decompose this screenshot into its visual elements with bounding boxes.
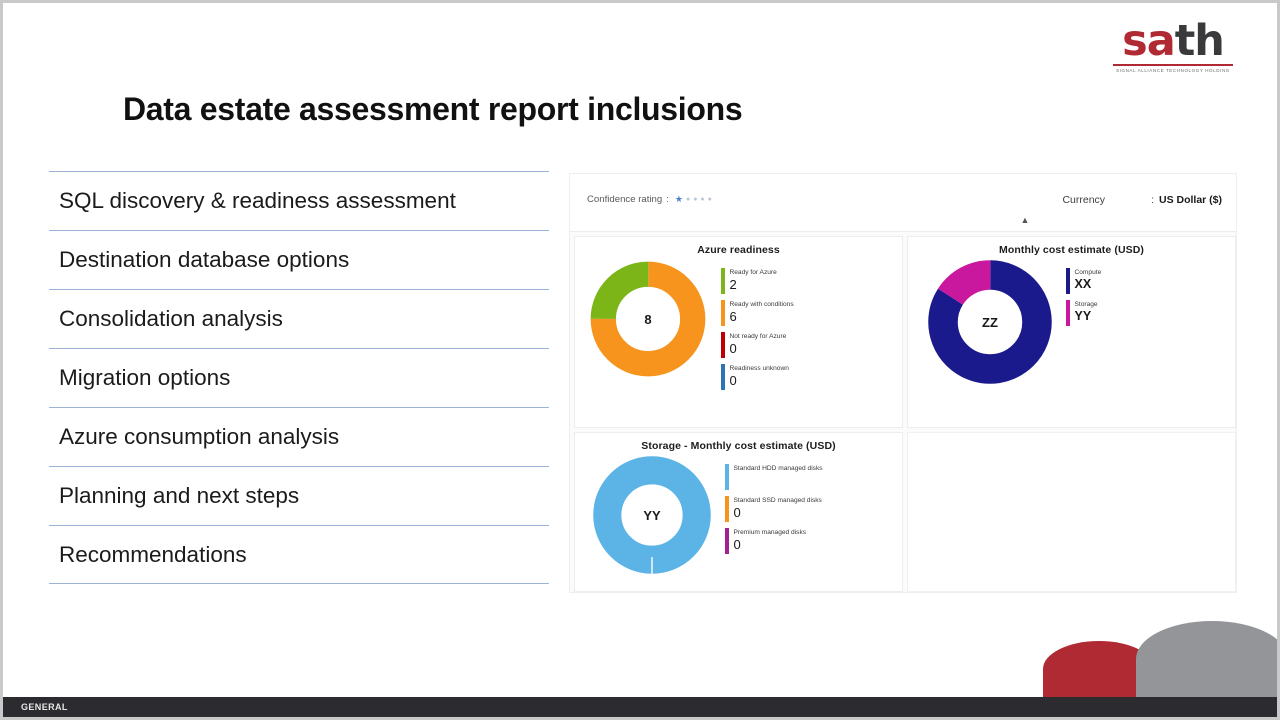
classification-bar: GENERAL bbox=[3, 697, 1280, 717]
logo-wordmark: sath bbox=[1113, 19, 1233, 63]
donut-slice-standard-hdd bbox=[607, 470, 696, 559]
legend-item: Not ready for Azure 0 bbox=[721, 332, 794, 358]
legend-swatch-readiness-unknown bbox=[721, 364, 725, 390]
decorative-semicircle-gray bbox=[1136, 621, 1280, 697]
donut-slice-ready-for-azure bbox=[603, 274, 692, 363]
legend-monthly-cost: Compute XX Storage YY bbox=[1066, 260, 1101, 332]
page-title: Data estate assessment report inclusions bbox=[123, 91, 742, 128]
card-title: Azure readiness bbox=[575, 237, 902, 256]
currency-value: US Dollar ($) bbox=[1159, 194, 1222, 206]
donut-svg bbox=[593, 456, 711, 574]
card-body: ZZ Compute XX St bbox=[908, 256, 1235, 384]
legend-label: Standard SSD managed disks bbox=[734, 496, 822, 505]
legend-label: Storage bbox=[1075, 300, 1098, 309]
agenda-item-destination-database-options[interactable]: Destination database options bbox=[49, 230, 549, 289]
chevron-up-icon[interactable]: ▲ bbox=[1019, 214, 1031, 226]
company-logo: sath SIGNAL ALLIANCE TECHNOLOGY HOLDING bbox=[1113, 19, 1233, 73]
legend-value: 6 bbox=[730, 309, 794, 324]
card-title: Storage - Monthly cost estimate (USD) bbox=[575, 433, 902, 452]
currency-colon: : bbox=[1151, 194, 1154, 206]
legend-swatch-standard-ssd bbox=[725, 496, 729, 522]
donut-chart-storage-cost: YY bbox=[593, 456, 711, 574]
legend-label: Compute bbox=[1075, 268, 1102, 277]
legend-swatch-compute bbox=[1066, 268, 1070, 294]
donut-slice-storage bbox=[943, 275, 1037, 369]
agenda-item-migration-options[interactable]: Migration options bbox=[49, 348, 549, 407]
card-storage-monthly-cost-estimate: Storage - Monthly cost estimate (USD) YY bbox=[574, 432, 903, 592]
donut-svg bbox=[928, 260, 1052, 384]
logo-tagline: SIGNAL ALLIANCE TECHNOLOGY HOLDING bbox=[1112, 68, 1234, 73]
currency-label: Currency bbox=[1062, 194, 1105, 206]
legend-swatch-ready-with-conditions bbox=[721, 300, 725, 326]
legend-label: Ready with conditions bbox=[730, 300, 794, 309]
donut-svg bbox=[589, 260, 707, 378]
agenda-list: SQL discovery & readiness assessment Des… bbox=[49, 171, 549, 584]
legend-value: YY bbox=[1075, 309, 1098, 324]
donut-chart-azure-readiness: 8 bbox=[589, 260, 707, 378]
legend-item: Storage YY bbox=[1066, 300, 1101, 326]
confidence-rating-colon: : bbox=[666, 194, 669, 205]
logo-text-t: t bbox=[1175, 16, 1195, 66]
legend-azure-readiness: Ready for Azure 2 Ready with conditions … bbox=[721, 260, 794, 396]
legend-storage-cost: Standard HDD managed disks Standard SSD … bbox=[725, 456, 823, 560]
legend-item: Standard SSD managed disks 0 bbox=[725, 496, 823, 522]
legend-swatch-storage bbox=[1066, 300, 1070, 326]
card-title: Monthly cost estimate (USD) bbox=[908, 237, 1235, 256]
dashboard-card-grid: Azure readiness 8 bbox=[572, 236, 1236, 592]
agenda-item-label: Migration options bbox=[59, 365, 230, 391]
legend-swatch-not-ready-for-azure bbox=[721, 332, 725, 358]
legend-label: Premium managed disks bbox=[734, 528, 807, 537]
confidence-rating-label: Confidence rating bbox=[587, 194, 662, 205]
legend-item: Ready for Azure 2 bbox=[721, 268, 794, 294]
legend-item: Standard HDD managed disks bbox=[725, 464, 823, 490]
logo-text-sa: sa bbox=[1122, 16, 1175, 66]
card-azure-readiness: Azure readiness 8 bbox=[574, 236, 903, 428]
star-empty-icon: ● bbox=[708, 195, 712, 204]
confidence-rating-stars: ★ ● ● ● ● bbox=[675, 195, 712, 204]
legend-label: Not ready for Azure bbox=[730, 332, 787, 341]
legend-value: 0 bbox=[734, 537, 807, 552]
legend-value: XX bbox=[1075, 277, 1102, 292]
legend-label: Readiness unknown bbox=[730, 364, 789, 373]
agenda-item-label: Consolidation analysis bbox=[59, 306, 283, 332]
agenda-item-planning-next-steps[interactable]: Planning and next steps bbox=[49, 466, 549, 525]
card-body: YY Standard HDD managed disks bbox=[575, 452, 902, 574]
agenda-item-label: Azure consumption analysis bbox=[59, 424, 339, 450]
legend-item: Compute XX bbox=[1066, 268, 1101, 294]
star-filled-icon: ★ bbox=[675, 195, 683, 204]
legend-value: 2 bbox=[730, 277, 777, 292]
legend-item: Readiness unknown 0 bbox=[721, 364, 794, 390]
legend-label: Ready for Azure bbox=[730, 268, 777, 277]
agenda-item-azure-consumption-analysis[interactable]: Azure consumption analysis bbox=[49, 407, 549, 466]
legend-item: Ready with conditions 6 bbox=[721, 300, 794, 326]
donut-chart-monthly-cost: ZZ bbox=[928, 260, 1052, 384]
legend-item: Premium managed disks 0 bbox=[725, 528, 823, 554]
confidence-rating-group: Confidence rating : ★ ● ● ● ● bbox=[587, 194, 712, 205]
card-body: 8 Ready for Azure 2 bbox=[575, 256, 902, 396]
logo-text-h: h bbox=[1194, 16, 1224, 66]
dashboard-header: Confidence rating : ★ ● ● ● ● Currency :… bbox=[570, 174, 1236, 232]
star-empty-icon: ● bbox=[686, 195, 690, 204]
legend-swatch-standard-hdd bbox=[725, 464, 729, 490]
agenda-item-label: SQL discovery & readiness assessment bbox=[59, 188, 456, 214]
legend-value: 0 bbox=[734, 505, 822, 520]
agenda-item-recommendations[interactable]: Recommendations bbox=[49, 525, 549, 584]
card-monthly-cost-estimate: Monthly cost estimate (USD) ZZ bbox=[907, 236, 1236, 428]
legend-swatch-ready-for-azure bbox=[721, 268, 725, 294]
classification-label: GENERAL bbox=[21, 702, 68, 712]
legend-value: 0 bbox=[730, 341, 787, 356]
agenda-item-label: Destination database options bbox=[59, 247, 349, 273]
dashboard-panel: Confidence rating : ★ ● ● ● ● Currency :… bbox=[569, 173, 1237, 593]
agenda-item-consolidation-analysis[interactable]: Consolidation analysis bbox=[49, 289, 549, 348]
legend-swatch-premium-managed bbox=[725, 528, 729, 554]
star-empty-icon: ● bbox=[693, 195, 697, 204]
legend-label: Standard HDD managed disks bbox=[734, 464, 823, 473]
card-empty-placeholder bbox=[907, 432, 1236, 592]
slide-canvas: sath SIGNAL ALLIANCE TECHNOLOGY HOLDING … bbox=[0, 0, 1280, 720]
agenda-item-label: Planning and next steps bbox=[59, 483, 299, 509]
agenda-item-label: Recommendations bbox=[59, 542, 247, 568]
legend-value: 0 bbox=[730, 373, 789, 388]
star-empty-icon: ● bbox=[700, 195, 704, 204]
currency-group: Currency : US Dollar ($) bbox=[1062, 194, 1222, 206]
agenda-item-sql-discovery[interactable]: SQL discovery & readiness assessment bbox=[49, 171, 549, 230]
